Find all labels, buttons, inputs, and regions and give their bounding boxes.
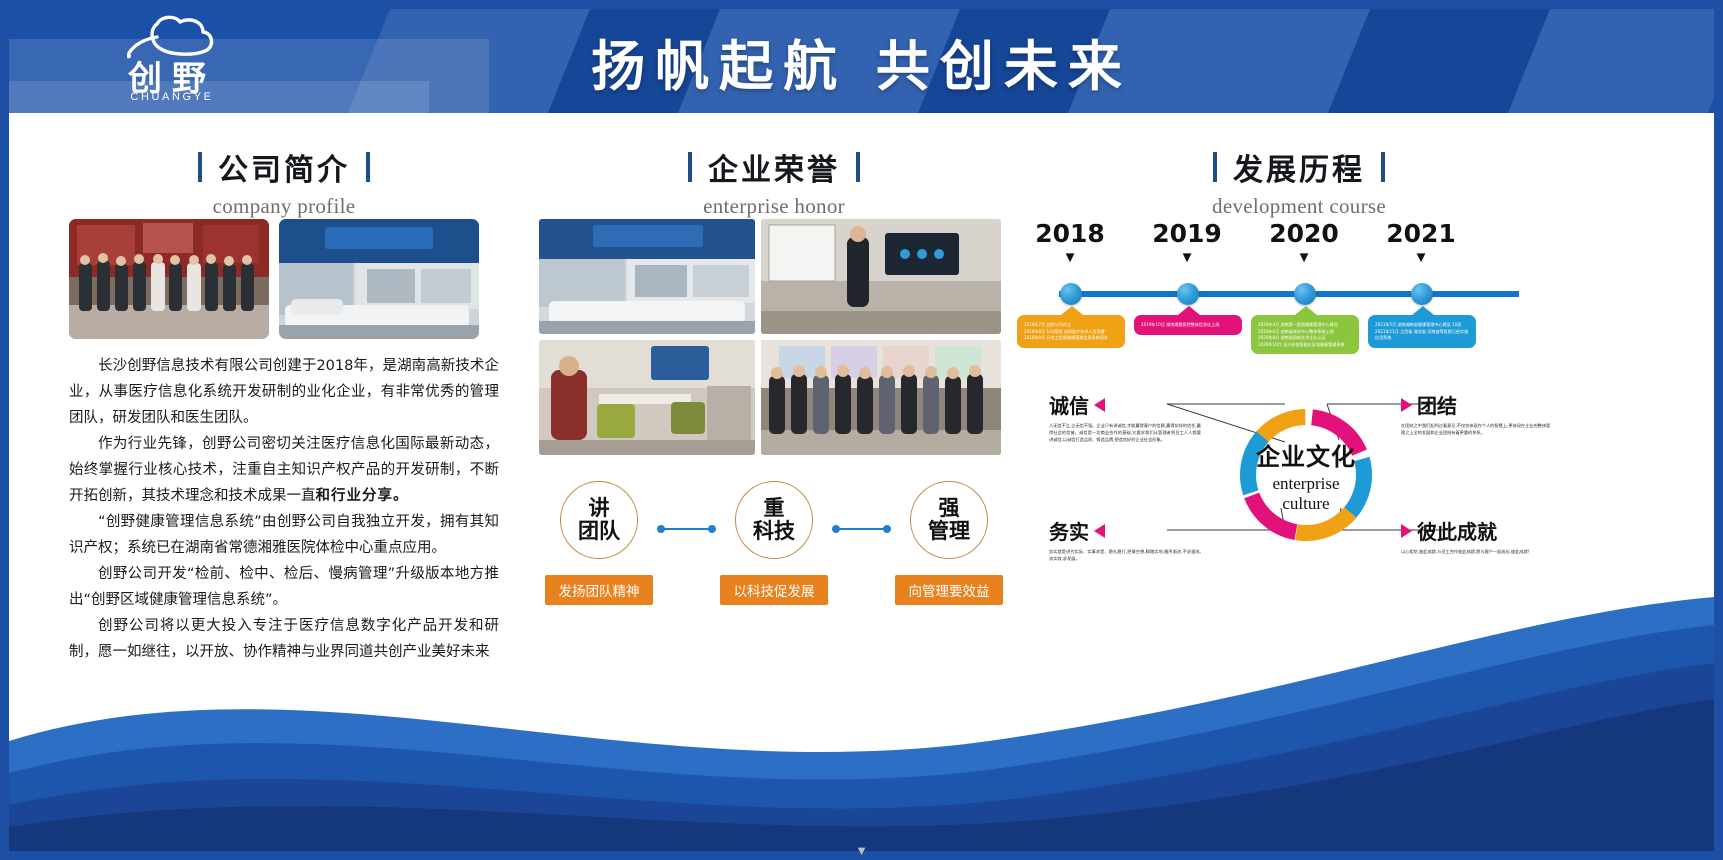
decorative-waves xyxy=(9,591,1714,851)
section-title-cn: 企业荣誉 xyxy=(708,145,840,189)
section-title-en: company profile xyxy=(69,194,499,219)
timeline: 2018 ▼ 2018年7月 创野公司创立 2018年8月 101医院 协同医疗… xyxy=(1049,219,1549,364)
timeline-event: 2020年10月 长沙医保智能化区域健康管理系统 xyxy=(1258,342,1353,349)
arrow-left-icon xyxy=(1094,398,1105,412)
open-workspace-photo xyxy=(539,340,755,455)
culture-center-en-2: culture xyxy=(1282,494,1329,514)
timeline-event: 2020年8月 湖南省国新技术企业认证 xyxy=(1258,335,1353,342)
timeline-year: 2020 xyxy=(1259,219,1349,248)
title-tick-right xyxy=(1381,152,1385,182)
paragraph: 长沙创野信息技术有限公司创建于2018年，是湖南高新技术企业，从事医疗信息化系统… xyxy=(69,353,499,431)
timeline-year: 2019 xyxy=(1142,219,1232,248)
value-circle: 讲 团队 xyxy=(560,481,638,559)
timeline-dot xyxy=(1060,283,1082,305)
culture-item-integrity: 诚信 人无信不立,企无信不强。企业只有讲诚信,才能赢得客户的信赖,赢得伙伴的信任… xyxy=(1049,390,1201,443)
header-band: 创野 CHUANGYE 扬帆起航 共创未来 xyxy=(9,9,1714,113)
page-title: 扬帆起航 共创未来 xyxy=(9,9,1714,113)
office-interior-photo xyxy=(539,219,755,334)
timeline-box: 2018年7月 创野公司创立 2018年8月 101医院 协同医疗技术人员签署 … xyxy=(1017,315,1125,348)
timeline-event: 2021年11月 江西省 湖北省 河南省等医院已经实施应用系统 xyxy=(1375,329,1470,342)
value-line-1: 讲 xyxy=(589,497,610,520)
company-logo: 创野 CHUANGYE xyxy=(97,15,247,113)
paragraph: “创野健康管理信息系统”由创野公司自我独立开发，拥有其知识产权；系统已在湖南省常… xyxy=(69,509,499,561)
team-group-photo-indoor xyxy=(69,219,269,339)
culture-center-label: 企业文化 enterprise culture xyxy=(1235,404,1377,546)
section-title-cn: 公司简介 xyxy=(218,145,350,189)
honor-photo-grid xyxy=(539,219,1009,455)
handwritten-note: 和行业分享。 xyxy=(316,487,409,504)
enterprise-honor-column: 讲 团队 发扬团队精神 重 科技 以科技促发展 强 xyxy=(539,219,1009,605)
logo-text-en: CHUANGYE xyxy=(105,91,239,103)
caret-down-icon: ▼ xyxy=(1025,253,1115,263)
value-line-1: 重 xyxy=(764,497,785,520)
culture-item-desc: 以心相交,彼此成就,与员工合作彼此成就,愿与客户一起成长,彼此成就! xyxy=(1401,549,1553,556)
timeline-dot xyxy=(1411,283,1433,305)
culture-item-pragmatism: 务实 务实就是讲究实际、实事求是、稳扎稳打,把情空想,脚踏实地,循序渐进,不求速… xyxy=(1049,516,1201,563)
section-title-en: development course xyxy=(1049,194,1549,219)
caret-down-icon: ▼ xyxy=(1142,253,1232,263)
culture-item-title: 务实 xyxy=(1049,516,1089,545)
section-title-cn: 发展历程 xyxy=(1233,145,1365,189)
poster-canvas: 创野 CHUANGYE 扬帆起航 共创未来 公司简介 company profi… xyxy=(0,0,1723,860)
timeline-box: 2020年4月 湖南第一医院健康管理中心建设 2020年6月 湖南省体检中心整体… xyxy=(1251,315,1359,354)
timeline-event: 2019年10月 湖南湘雅医院整体信息化上线 xyxy=(1141,322,1236,329)
arrow-left-icon xyxy=(1094,524,1105,538)
paragraph: 作为行业先锋，创野公司密切关注医疗信息化国际最新动态，始终掌握行业核心技术，注重… xyxy=(69,431,499,509)
culture-item-desc: 在团结之中我们起到过看意见,不仅仅体现在个人的智慧上,更体现在企业的整体管理之上… xyxy=(1401,423,1553,437)
timeline-box: 2021年5月 湖南湖南省健康管理中心建设 10家 2021年11月 江西省 湖… xyxy=(1368,315,1476,348)
culture-item-title: 诚信 xyxy=(1049,390,1089,419)
value-connector xyxy=(834,528,889,530)
timeline-event: 2020年4月 湖南第一医院健康管理中心建设 xyxy=(1258,322,1353,329)
presentation-meeting-photo xyxy=(761,219,1001,334)
caret-down-icon: ▼ xyxy=(1376,253,1466,263)
title-tick-right xyxy=(856,152,860,182)
award-ceremony-group-photo xyxy=(761,340,1001,455)
culture-center-en-1: enterprise xyxy=(1272,474,1339,494)
arrow-right-icon xyxy=(1401,398,1412,412)
culture-item-title: 彼此成就 xyxy=(1417,516,1497,545)
value-circle: 强 管理 xyxy=(910,481,988,559)
title-tick-left xyxy=(688,152,692,182)
section-head-company-profile: 公司简介 company profile xyxy=(69,145,499,219)
poster-inner: 创野 CHUANGYE 扬帆起航 共创未来 公司简介 company profi… xyxy=(9,9,1714,851)
culture-item-unity: 团结 在团结之中我们起到过看意见,不仅仅体现在个人的智慧上,更体现在企业的整体管… xyxy=(1401,390,1553,437)
culture-item-title: 团结 xyxy=(1417,390,1457,419)
caret-down-icon: ▼ xyxy=(1259,253,1349,263)
section-title-en: enterprise honor xyxy=(539,194,1009,219)
value-circle: 重 科技 xyxy=(735,481,813,559)
title-tick-right xyxy=(366,152,370,182)
timeline-event: 2021年5月 湖南湖南省健康管理中心建设 10家 xyxy=(1375,322,1470,329)
chevron-down-icon[interactable]: ▼ xyxy=(855,843,868,858)
section-head-enterprise-honor: 企业荣誉 enterprise honor xyxy=(539,145,1009,219)
culture-center-cn: 企业文化 xyxy=(1256,437,1356,472)
value-unit: 讲 团队 发扬团队精神 xyxy=(539,481,659,605)
timeline-dot xyxy=(1177,283,1199,305)
value-unit: 重 科技 以科技促发展 xyxy=(714,481,834,605)
timeline-year: 2021 xyxy=(1376,219,1466,248)
timeline-axis xyxy=(1059,291,1519,297)
title-tick-left xyxy=(1213,152,1217,182)
value-line-1: 强 xyxy=(939,497,960,520)
value-line-2: 团队 xyxy=(578,520,620,543)
timeline-box: 2019年10月 湖南湘雅医院整体信息化上线 xyxy=(1134,315,1242,335)
development-course-column: 2018 ▼ 2018年7月 创野公司创立 2018年8月 101医院 协同医疗… xyxy=(1049,219,1549,592)
title-tick-left xyxy=(198,152,202,182)
office-reception-photo xyxy=(279,219,479,339)
timeline-event: 2018年9月 开发工程版健康管理信息系统研发 xyxy=(1024,335,1119,342)
value-line-2: 科技 xyxy=(753,520,795,543)
value-unit: 强 管理 向管理要效益 xyxy=(889,481,1009,605)
section-head-development-course: 发展历程 development course xyxy=(1049,145,1549,219)
culture-item-mutual-achievement: 彼此成就 以心相交,彼此成就,与员工合作彼此成就,愿与客户一起成长,彼此成就! xyxy=(1401,516,1553,556)
culture-item-desc: 务实就是讲究实际、实事求是、稳扎稳打,把情空想,脚踏实地,循序渐进,不求速成,求… xyxy=(1049,549,1201,563)
value-line-2: 管理 xyxy=(928,520,970,543)
timeline-dot xyxy=(1294,283,1316,305)
timeline-year: 2018 xyxy=(1025,219,1115,248)
arrow-right-icon xyxy=(1401,524,1412,538)
culture-item-desc: 人无信不立,企无信不强。企业只有讲诚信,才能赢得客户的信赖,赢得伙伴的信任,赢得… xyxy=(1049,423,1201,443)
value-connector xyxy=(659,528,714,530)
timeline-event: 2018年7月 创野公司创立 xyxy=(1024,322,1119,329)
core-values-row: 讲 团队 发扬团队精神 重 科技 以科技促发展 强 xyxy=(539,481,1009,605)
company-photo-row xyxy=(69,219,499,339)
enterprise-culture-diagram: 企业文化 enterprise culture 诚信 人无信不立,企无信不强。企… xyxy=(1049,382,1549,592)
